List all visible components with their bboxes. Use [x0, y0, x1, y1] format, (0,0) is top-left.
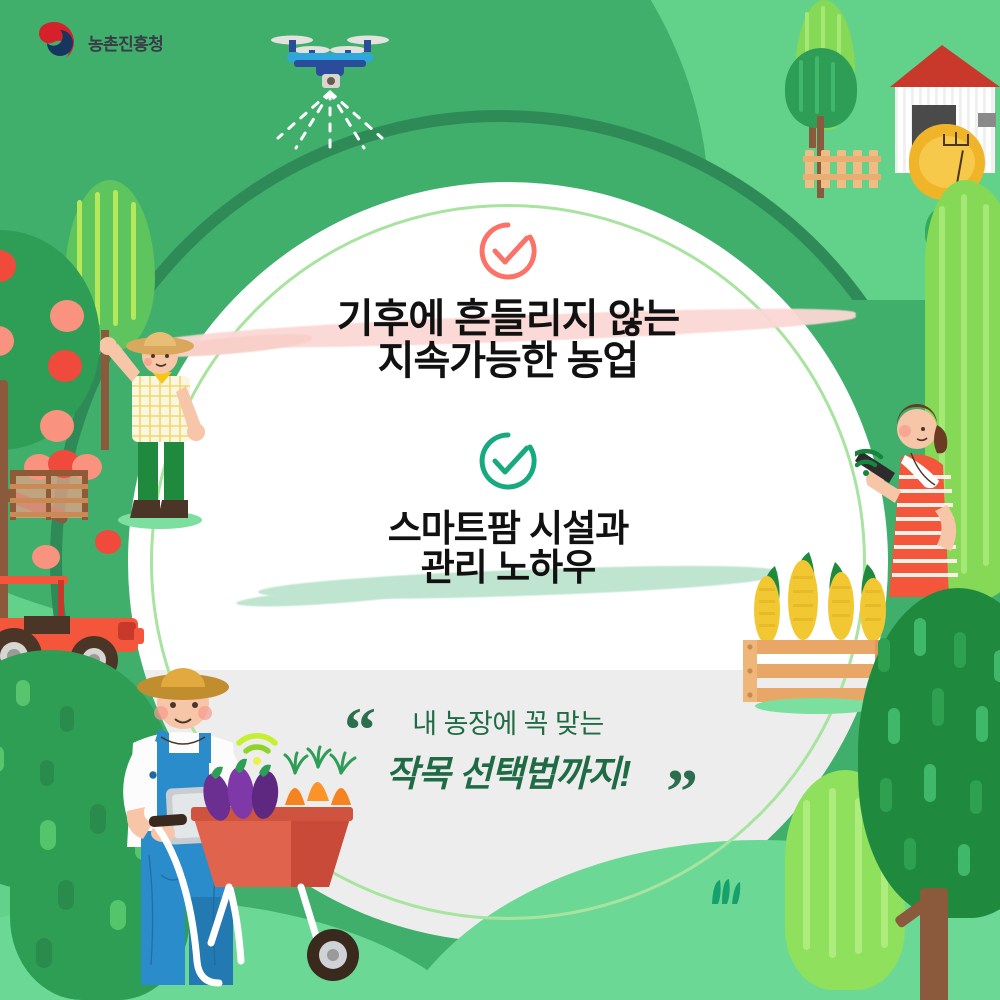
round-tree-top — [785, 48, 857, 128]
headline-1-line-2: 지속가능한 농업 — [128, 340, 888, 382]
headline-2-line-1: 스마트팜 시설과 — [128, 510, 888, 549]
logo: 농촌진흥청 — [30, 18, 163, 66]
grass-sprout-icon — [708, 878, 742, 909]
farmer-picking-fruit — [100, 320, 220, 535]
korea-government-taegeuk-emblem — [30, 18, 78, 66]
check-circle-icon-coral — [477, 220, 539, 282]
poster-canvas: 기후에 흔들리지 않는 지속가능한 농업 스마트팜 시설과 관리 노하우 “ ” — [0, 0, 1000, 1000]
fallen-peach-1 — [32, 545, 60, 569]
drone-spraying — [270, 22, 390, 157]
logo-organization-name: 농촌진흥청 — [88, 30, 163, 55]
check-circle-icon-teal — [477, 430, 539, 492]
headline-1-line-1: 기후에 흔들리지 않는 — [128, 298, 888, 340]
headline-block-1: 기후에 흔들리지 않는 지속가능한 농업 — [128, 220, 888, 382]
fruit-tree-with-peaches — [0, 230, 100, 450]
farmer-with-tablet-and-wheelbarrow — [105, 625, 405, 1000]
drone-icon — [270, 22, 390, 152]
large-oval-tree — [858, 588, 1000, 918]
